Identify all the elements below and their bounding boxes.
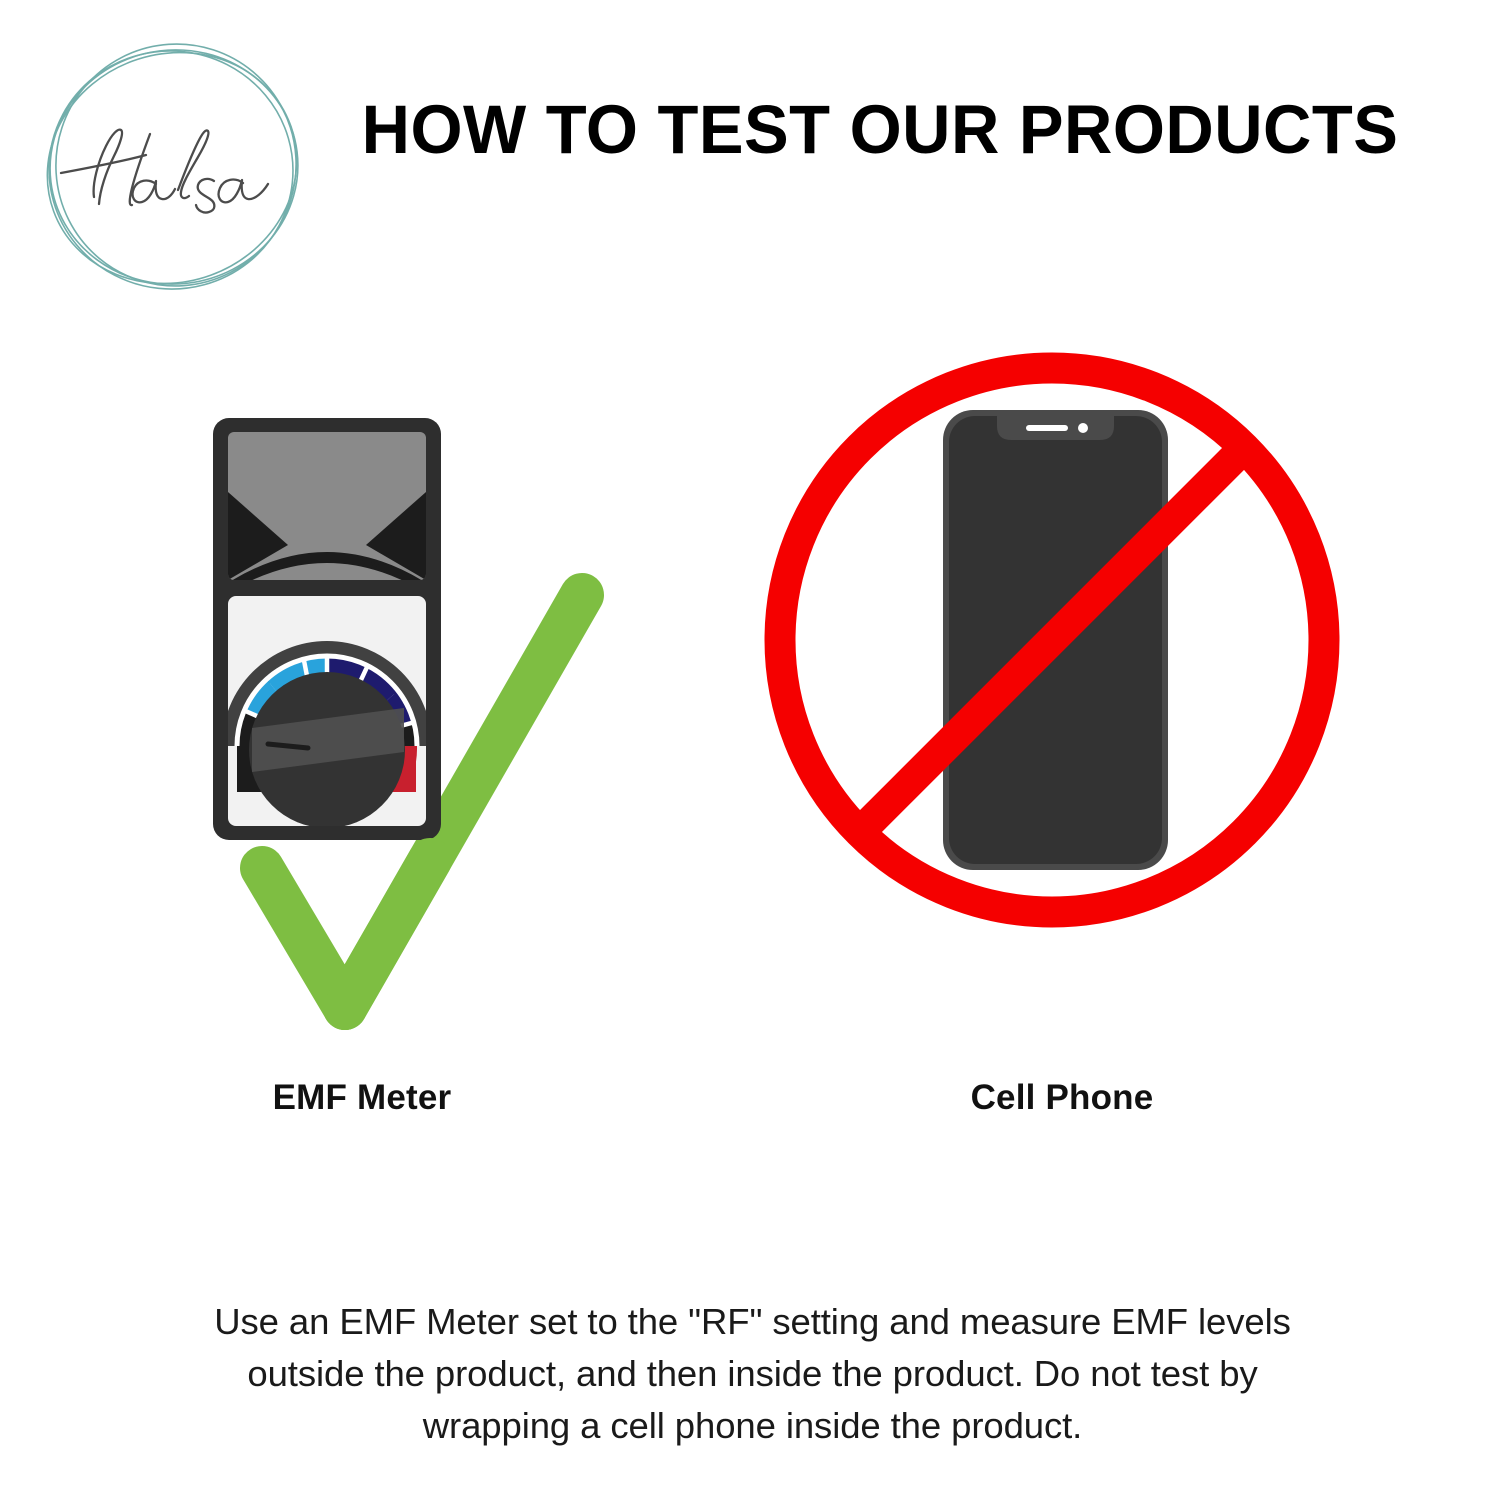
cell-phone-svg: [740, 340, 1440, 1040]
emf-meter-svg: [60, 340, 720, 1040]
meter-display: [220, 432, 434, 598]
instruction-paragraph: Use an EMF Meter set to the "RF" setting…: [190, 1296, 1315, 1451]
caption-emf-meter: EMF Meter: [58, 1078, 666, 1118]
caption-cell-phone: Cell Phone: [760, 1078, 1364, 1118]
front-camera-icon: [1078, 423, 1088, 433]
panel-emf-meter: [60, 340, 720, 1140]
emf-meter-illustration: [60, 340, 720, 1040]
cell-phone-illustration: [740, 340, 1440, 1040]
meter-knob[interactable]: [249, 672, 405, 828]
logo-circles-icon: [28, 22, 318, 312]
green-check-short-arm-icon: [262, 860, 430, 1008]
panel-cell-phone: [740, 340, 1440, 1140]
meter-body: [213, 418, 441, 840]
brand-logo: [28, 22, 318, 312]
meter-face: [222, 596, 432, 828]
earpiece-speaker-icon: [1026, 425, 1068, 431]
infographic-page: HOW TO TEST OUR PRODUCTS: [0, 0, 1500, 1500]
logo-svg: [28, 22, 318, 312]
phone-notch: [997, 416, 1114, 440]
page-title: HOW TO TEST OUR PRODUCTS: [356, 95, 1404, 164]
logo-wordmark-icon: [61, 130, 268, 213]
